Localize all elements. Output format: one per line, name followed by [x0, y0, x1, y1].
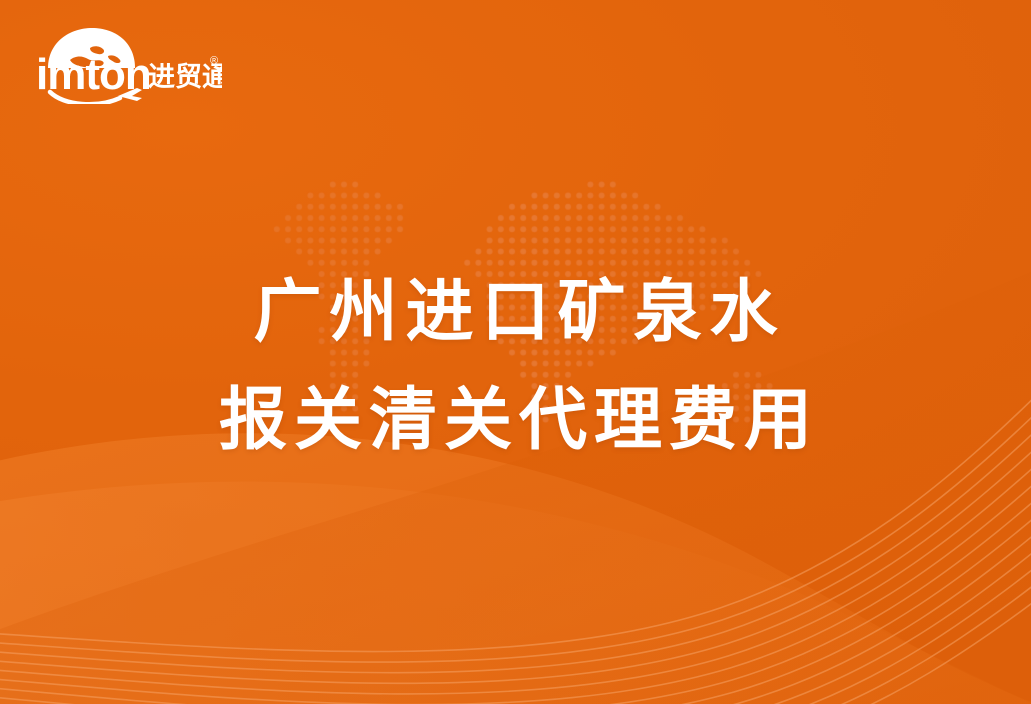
trademark-symbol: ® [210, 55, 218, 67]
headline-line-1: 广州进口矿泉水 [0, 258, 1031, 366]
headline-line-2: 报关清关代理费用 [0, 366, 1031, 474]
logo-artwork: imton 进贸通 ® [36, 26, 222, 104]
promo-banner: imton 进贸通 ® 广州进口矿泉水 报关清关代理费用 [0, 0, 1031, 704]
headline-block: 广州进口矿泉水 报关清关代理费用 [0, 258, 1031, 474]
brand-logo[interactable]: imton 进贸通 ® [36, 26, 222, 104]
